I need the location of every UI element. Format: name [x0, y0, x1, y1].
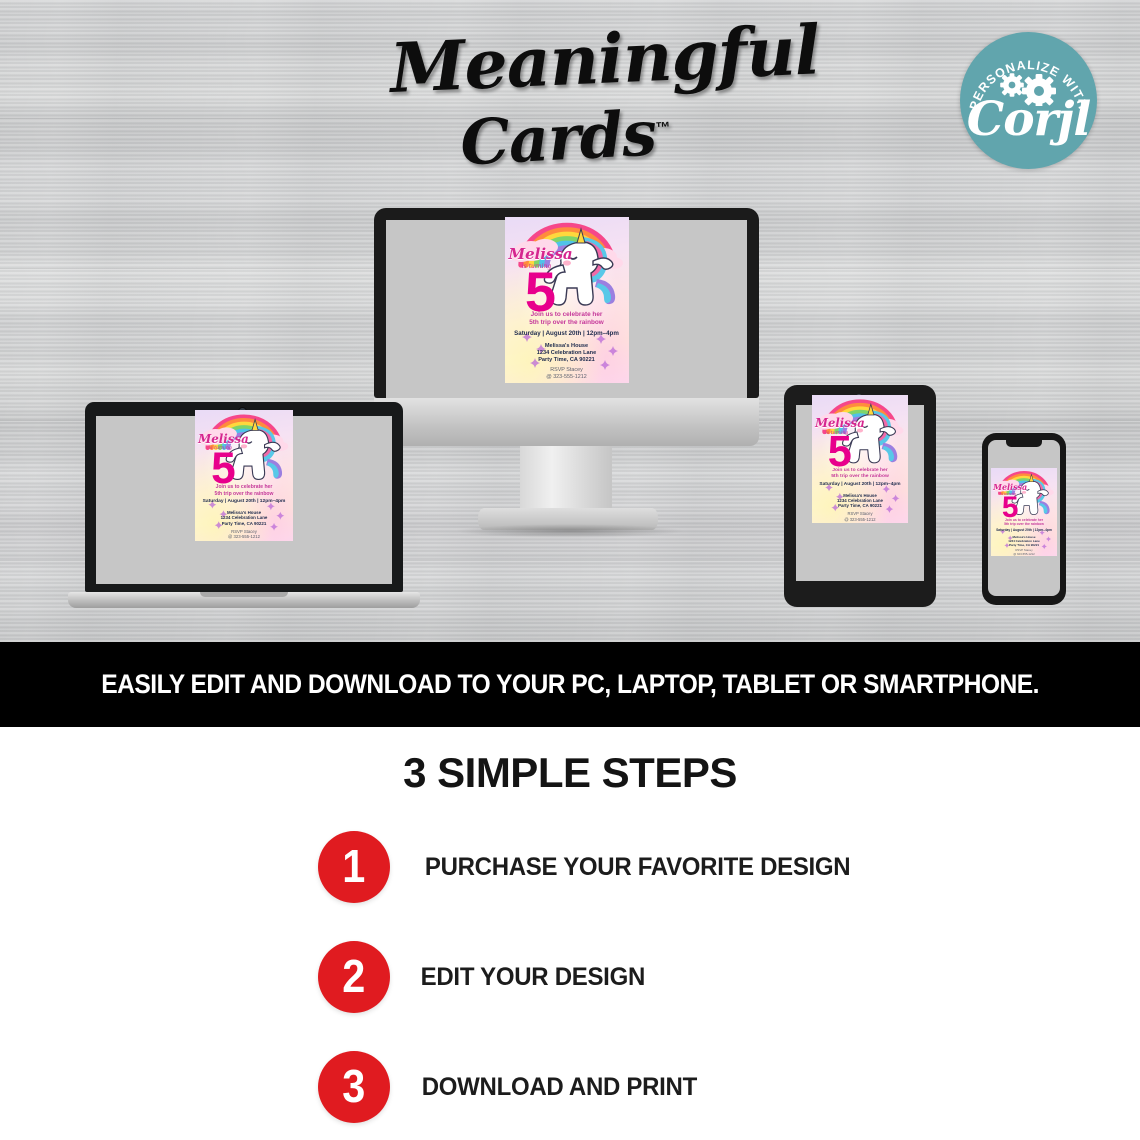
invitation-rsvp-phone: @ 323-555-1212 — [505, 374, 629, 380]
step-number-1: 1 — [342, 843, 365, 889]
phone-body: Melissais turning5Join us to celebrate h… — [982, 433, 1066, 605]
tablet-body: Melissais turning5Join us to celebrate h… — [784, 385, 936, 607]
promo-banner: EASILY EDIT AND DOWNLOAD TO YOUR PC, LAP… — [0, 642, 1140, 727]
step-number-3: 3 — [342, 1063, 365, 1109]
invitation-rsvp-phone: @ 323-555-1212 — [991, 552, 1057, 556]
invitation-card-desktop[interactable]: Melissais turning5Join us to celebrate h… — [505, 217, 629, 383]
device-tablet: Melissais turning5Join us to celebrate h… — [784, 385, 936, 607]
step-row-3: 3 DOWNLOAD AND PRINT — [318, 1051, 703, 1123]
invitation-city-state-zip: Party Time, CA 90221 — [812, 503, 908, 508]
invitation-address: 1234 Celebration Lane — [195, 515, 293, 520]
invitation-venue: Melissa's House — [812, 493, 908, 498]
invitation-venue: Melissa's House — [505, 343, 629, 349]
invitation-datetime: Saturday | August 20th | 12pm–4pm — [991, 528, 1057, 532]
step-label-3: DOWNLOAD AND PRINT — [422, 1073, 697, 1102]
invitation-address: 1234 Celebration Lane — [505, 350, 629, 356]
laptop-screen: Melissais turning5Join us to celebrate h… — [96, 416, 392, 584]
invitation-rsvp-phone: @ 323-555-1212 — [812, 517, 908, 522]
invitation-datetime: Saturday | August 20th | 12pm–4pm — [195, 499, 293, 504]
step-row-2: 2 EDIT YOUR DESIGN — [318, 941, 650, 1013]
monitor-shadow — [455, 524, 685, 538]
device-laptop: Melissais turning5Join us to celebrate h… — [85, 402, 403, 592]
invitation-headline-2: 5th trip over the rainbow — [195, 491, 293, 497]
invitation-card-phone[interactable]: Melissais turning5Join us to celebrate h… — [991, 468, 1057, 556]
trademark-symbol: ™ — [655, 119, 670, 137]
invitation-city-state-zip: Party Time, CA 90221 — [991, 543, 1057, 547]
brand-logo: Meaningful Cards™ — [390, 22, 760, 182]
invitation-card-tablet[interactable]: Melissais turning5Join us to celebrate h… — [812, 395, 908, 523]
invitation-rsvp-phone: @ 323-555-1212 — [195, 534, 293, 539]
step-label-1: PURCHASE YOUR FAVORITE DESIGN — [425, 853, 850, 882]
laptop-trackpad-notch — [200, 592, 288, 597]
device-desktop-monitor: Melissais turning5Join us to celebrate h… — [374, 208, 759, 398]
invitation-age-number: 5 — [823, 435, 857, 471]
brand-logo-line2-text: Cards — [459, 96, 658, 179]
phone-notch — [1006, 440, 1042, 447]
invitation-headline-2: 5th trip over the rainbow — [505, 319, 629, 327]
invitation-venue: Melissa's House — [195, 510, 293, 515]
invitation-age-number: 5 — [519, 269, 563, 315]
invitation-datetime: Saturday | August 20th | 12pm–4pm — [505, 330, 629, 337]
invitation-headline-2: 5th trip over the rainbow — [991, 522, 1057, 526]
invitation-datetime: Saturday | August 20th | 12pm–4pm — [812, 482, 908, 487]
invitation-card-laptop[interactable]: Melissais turning5Join us to celebrate h… — [195, 410, 293, 541]
invitation-rsvp-name: RSVP Stacey — [195, 529, 293, 534]
invitation-city-state-zip: Party Time, CA 90221 — [195, 521, 293, 526]
invitation-rsvp-name: RSVP Stacey — [505, 367, 629, 373]
invitation-age-number: 5 — [206, 451, 241, 487]
steps-title: 3 SIMPLE STEPS — [0, 749, 1140, 797]
steps-section: 3 SIMPLE STEPS 1 PURCHASE YOUR FAVORITE … — [0, 727, 1140, 1140]
invitation-age-number: 5 — [998, 496, 1021, 520]
phone-screen: Melissais turning5Join us to celebrate h… — [988, 440, 1060, 596]
device-smartphone: Melissais turning5Join us to celebrate h… — [982, 433, 1066, 605]
step-row-1: 1 PURCHASE YOUR FAVORITE DESIGN — [318, 831, 859, 903]
monitor-screen: Melissais turning5Join us to celebrate h… — [386, 220, 747, 398]
invitation-headline-1: Join us to celebrate her — [505, 311, 629, 319]
step-number-badge-1: 1 — [318, 831, 390, 903]
invitation-rsvp-name: RSVP Stacey — [812, 511, 908, 516]
step-number-badge-3: 3 — [318, 1051, 390, 1123]
laptop-bezel: Melissais turning5Join us to celebrate h… — [85, 402, 403, 592]
step-number-badge-2: 2 — [318, 941, 390, 1013]
invitation-city-state-zip: Party Time, CA 90221 — [505, 357, 629, 363]
step-label-2: EDIT YOUR DESIGN — [421, 963, 645, 992]
monitor-stand-neck — [520, 446, 612, 512]
tablet-screen: Melissais turning5Join us to celebrate h… — [796, 405, 924, 581]
promo-banner-text: EASILY EDIT AND DOWNLOAD TO YOUR PC, LAP… — [101, 669, 1039, 700]
corjl-personalize-badge[interactable]: PERSONALIZE WITH — [960, 32, 1097, 169]
invitation-address: 1234 Celebration Lane — [812, 498, 908, 503]
corjl-wordmark: Corjl — [960, 94, 1097, 146]
monitor-bezel: Melissais turning5Join us to celebrate h… — [374, 208, 759, 398]
step-number-2: 2 — [342, 953, 365, 999]
monitor-chin — [374, 398, 759, 446]
invitation-headline-2: 5th trip over the rainbow — [812, 474, 908, 480]
